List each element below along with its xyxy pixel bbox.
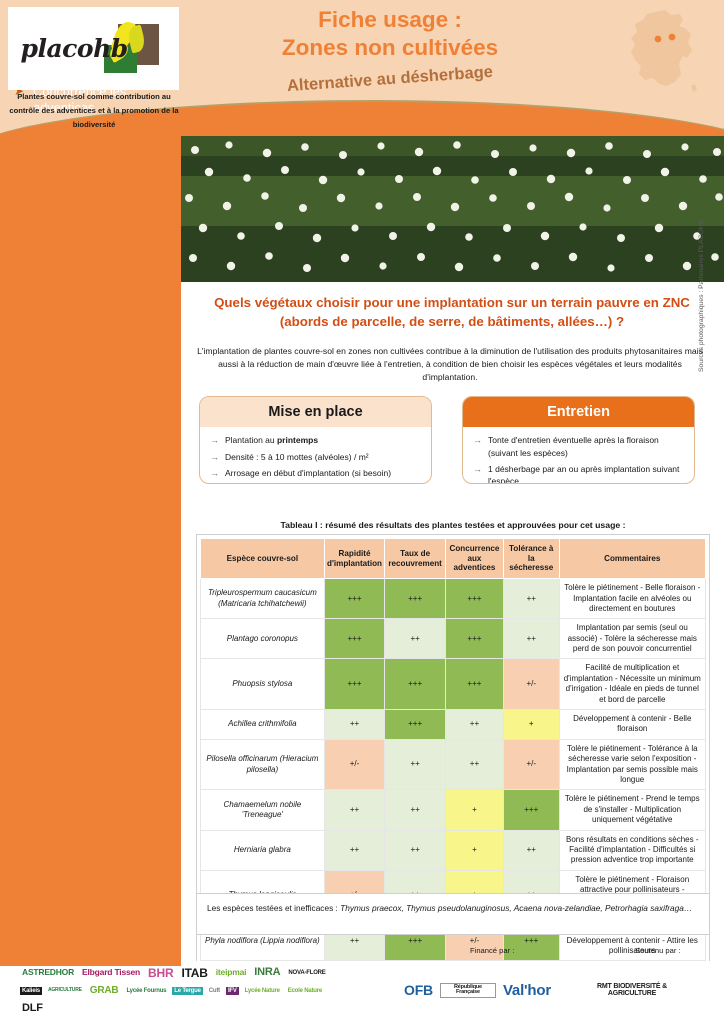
cell-species: Chamaemelum nobile 'Treneague' bbox=[201, 790, 325, 830]
logo-le-tergue: Le Tergue bbox=[172, 987, 202, 995]
partner-logos-row: ASTREDHOR Elbgard Tissen BHR ITAB iteipm… bbox=[16, 961, 338, 1019]
cell-tolerance: +++ bbox=[503, 790, 559, 830]
main-question: Quels végétaux choisir pour une implanta… bbox=[196, 293, 708, 332]
cell-recouvrement: ++ bbox=[385, 739, 446, 790]
cell-rapidite: ++ bbox=[324, 830, 385, 870]
france-map-icon bbox=[625, 8, 700, 98]
logo-bhr: BHR bbox=[146, 966, 175, 980]
item-pre: Plantation au bbox=[225, 435, 277, 445]
cell-concurrence: +++ bbox=[445, 579, 503, 619]
cell-concurrence: + bbox=[445, 790, 503, 830]
cell-rapidite: +++ bbox=[324, 579, 385, 619]
logo-elbgard: Elbgard Tissen bbox=[80, 967, 142, 978]
logo-inra: INRA bbox=[252, 966, 282, 979]
col-recouvrement: Taux de recouvrement bbox=[385, 539, 446, 579]
logo-valhor: Val'hor bbox=[501, 982, 553, 999]
list-item: → Arrosage en début d'implantation (si b… bbox=[210, 467, 421, 481]
arrow-icon: → bbox=[210, 434, 219, 448]
cell-tolerance: + bbox=[503, 710, 559, 740]
note-species: Thymus praecox, Thymus pseudolanuginosus… bbox=[340, 903, 692, 913]
table-row: Phuopsis stylosa +++ +++ +++ +/- Facilit… bbox=[201, 659, 706, 710]
logo-republique-francaise: République Française bbox=[440, 983, 496, 998]
cell-rapidite: ++ bbox=[324, 790, 385, 830]
logo-itab: ITAB bbox=[179, 966, 209, 980]
arrow-icon: → bbox=[210, 451, 219, 465]
list-item: → 1 désherbage par an ou après implantat… bbox=[473, 463, 684, 485]
table-caption: Tableau I : résumé des résultats des pla… bbox=[196, 520, 710, 530]
table-row: Herniaria glabra ++ ++ + ++ Bons résulta… bbox=[201, 830, 706, 870]
logo-ifv: IFV bbox=[226, 987, 239, 995]
cell-tolerance: +/- bbox=[503, 739, 559, 790]
table-row: Tripleurospermum caucasicum (Matricaria … bbox=[201, 579, 706, 619]
title-line-1: Fiche usage : bbox=[190, 6, 590, 34]
cell-tolerance: ++ bbox=[503, 579, 559, 619]
cell-species: Phuopsis stylosa bbox=[201, 659, 325, 710]
logo-lycee-nature: Lycée Nature bbox=[243, 987, 282, 995]
logo-wordmark: placohb bbox=[21, 34, 128, 63]
item-bold: printemps bbox=[277, 435, 318, 445]
arrow-icon: → bbox=[473, 434, 482, 460]
cell-concurrence: +++ bbox=[445, 619, 503, 659]
cell-commentaires: Facilité de multiplication et d'implanta… bbox=[559, 659, 705, 710]
placohb-logo: placohb bbox=[8, 7, 179, 90]
cell-commentaires: Bons résultats en conditions sèches - Fa… bbox=[559, 830, 705, 870]
table-header-row: Espèce couvre-sol Rapidité d'implantatio… bbox=[201, 539, 706, 579]
intro-paragraph: L'implantation de plantes couvre-sol en … bbox=[190, 345, 710, 384]
item-text: Tonte d'entretien éventuelle après la fl… bbox=[488, 434, 684, 460]
cell-commentaires: Tolère le piétinement - Prend le temps d… bbox=[559, 790, 705, 830]
cell-recouvrement: +++ bbox=[385, 710, 446, 740]
arrow-icon: → bbox=[210, 467, 219, 481]
cell-rapidite: +/- bbox=[324, 739, 385, 790]
logo-fournus: Lycée Fournus bbox=[124, 987, 168, 995]
list-item: → Densité : 5 à 10 mottes (alvéoles) / m… bbox=[210, 451, 421, 465]
logo-agriculture: AGRICULTURE bbox=[46, 987, 84, 994]
logo-ecole-nature: Ecole Nature bbox=[286, 987, 324, 995]
cell-commentaires: Implantation par semis (seul ou associé)… bbox=[559, 619, 705, 659]
cell-tolerance: ++ bbox=[503, 619, 559, 659]
cell-rapidite: +++ bbox=[324, 619, 385, 659]
logo-cuft: Cuft bbox=[207, 987, 222, 995]
cell-rapidite: +++ bbox=[324, 659, 385, 710]
cell-concurrence: ++ bbox=[445, 739, 503, 790]
cell-species: Tripleurospermum caucasicum (Matricaria … bbox=[201, 579, 325, 619]
item-text: 1 désherbage par an ou après implantatio… bbox=[488, 463, 684, 485]
cell-species: Achillea crithmifolia bbox=[201, 710, 325, 740]
cell-concurrence: +++ bbox=[445, 659, 503, 710]
col-rapidite: Rapidité d'implantation bbox=[324, 539, 385, 579]
hero-photo-daisies bbox=[181, 136, 724, 282]
photo-credit-rotated: Sources photographiques : Partenaires PL… bbox=[698, 220, 705, 372]
cell-species: Pilosella officinarum (Hieracium pilosel… bbox=[201, 739, 325, 790]
cell-concurrence: ++ bbox=[445, 710, 503, 740]
cell-tolerance: +/- bbox=[503, 659, 559, 710]
logo-nova-flore: NOVA-FLORE bbox=[286, 969, 327, 977]
col-concurrence: Concurrence aux adventices bbox=[445, 539, 503, 579]
logo-dlf: DLF bbox=[20, 1002, 45, 1015]
cell-tolerance: ++ bbox=[503, 830, 559, 870]
list-item: → Plantation au printemps bbox=[210, 434, 421, 448]
item-text: Arrosage en début d'implantation (si bes… bbox=[225, 467, 391, 481]
logo-caption: Plantes couvre-sol comme contribution au… bbox=[4, 90, 184, 132]
table-row: Achillea crithmifolia ++ +++ ++ + Dévelo… bbox=[201, 710, 706, 740]
logo-iteipmai: iteipmai bbox=[214, 967, 249, 978]
table-row: Plantago coronopus +++ ++ +++ ++ Implant… bbox=[201, 619, 706, 659]
note-pre: Les espèces testées et inefficaces : bbox=[207, 903, 340, 913]
logo-rmt-biodiversite: RMT BIODIVERSITÉ & AGRICULTURE bbox=[578, 982, 686, 998]
funded-by-label: Financé par : bbox=[470, 946, 514, 955]
cell-commentaires: Développement à contenir - Belle florais… bbox=[559, 710, 705, 740]
logo-grab: GRAB bbox=[88, 985, 121, 997]
item-text: Densité : 5 à 10 mottes (alvéoles) / m² bbox=[225, 451, 369, 465]
list-item: → Tonte d'entretien éventuelle après la … bbox=[473, 434, 684, 460]
page-title: Fiche usage : Zones non cultivées Altern… bbox=[190, 6, 590, 89]
card-title: Entretien bbox=[463, 397, 694, 427]
cell-commentaires: Tolère le piétinement - Belle floraison … bbox=[559, 579, 705, 619]
table-row: Pilosella officinarum (Hieracium pilosel… bbox=[201, 739, 706, 790]
supported-by-label: Soutenu par : bbox=[635, 946, 681, 955]
col-tolerance: Tolérance à la sécheresse bbox=[503, 539, 559, 579]
card-mise-en-place: Mise en place → Plantation au printemps … bbox=[199, 396, 432, 484]
arrow-icon: → bbox=[473, 463, 482, 485]
ineffective-species-note: Les espèces testées et inefficaces : Thy… bbox=[196, 893, 710, 935]
cell-rapidite: ++ bbox=[324, 710, 385, 740]
title-line-2: Zones non cultivées bbox=[190, 34, 590, 62]
cell-recouvrement: ++ bbox=[385, 830, 446, 870]
cell-recouvrement: ++ bbox=[385, 619, 446, 659]
cell-recouvrement: +++ bbox=[385, 579, 446, 619]
cell-commentaires: Tolère le piétinement - Tolérance à la s… bbox=[559, 739, 705, 790]
item-text: Plantation au printemps bbox=[225, 434, 318, 448]
cell-recouvrement: +++ bbox=[385, 659, 446, 710]
cell-species: Herniaria glabra bbox=[201, 830, 325, 870]
cell-concurrence: + bbox=[445, 830, 503, 870]
card-entretien: Entretien → Tonte d'entretien éventuelle… bbox=[462, 396, 695, 484]
logo-kalieis: Kalieis bbox=[20, 987, 42, 995]
funder-logos-row: OFB République Française Val'hor RMT BIO… bbox=[338, 961, 718, 1019]
left-sidebar bbox=[0, 136, 181, 966]
logo-astredhor: ASTREDHOR bbox=[20, 967, 76, 978]
cell-species: Plantago coronopus bbox=[201, 619, 325, 659]
cell-recouvrement: ++ bbox=[385, 790, 446, 830]
col-commentaires: Commentaires bbox=[559, 539, 705, 579]
col-espece: Espèce couvre-sol bbox=[201, 539, 325, 579]
logo-ofb: OFB bbox=[402, 982, 435, 998]
card-title: Mise en place bbox=[200, 397, 431, 427]
table-row: Chamaemelum nobile 'Treneague' ++ ++ + +… bbox=[201, 790, 706, 830]
